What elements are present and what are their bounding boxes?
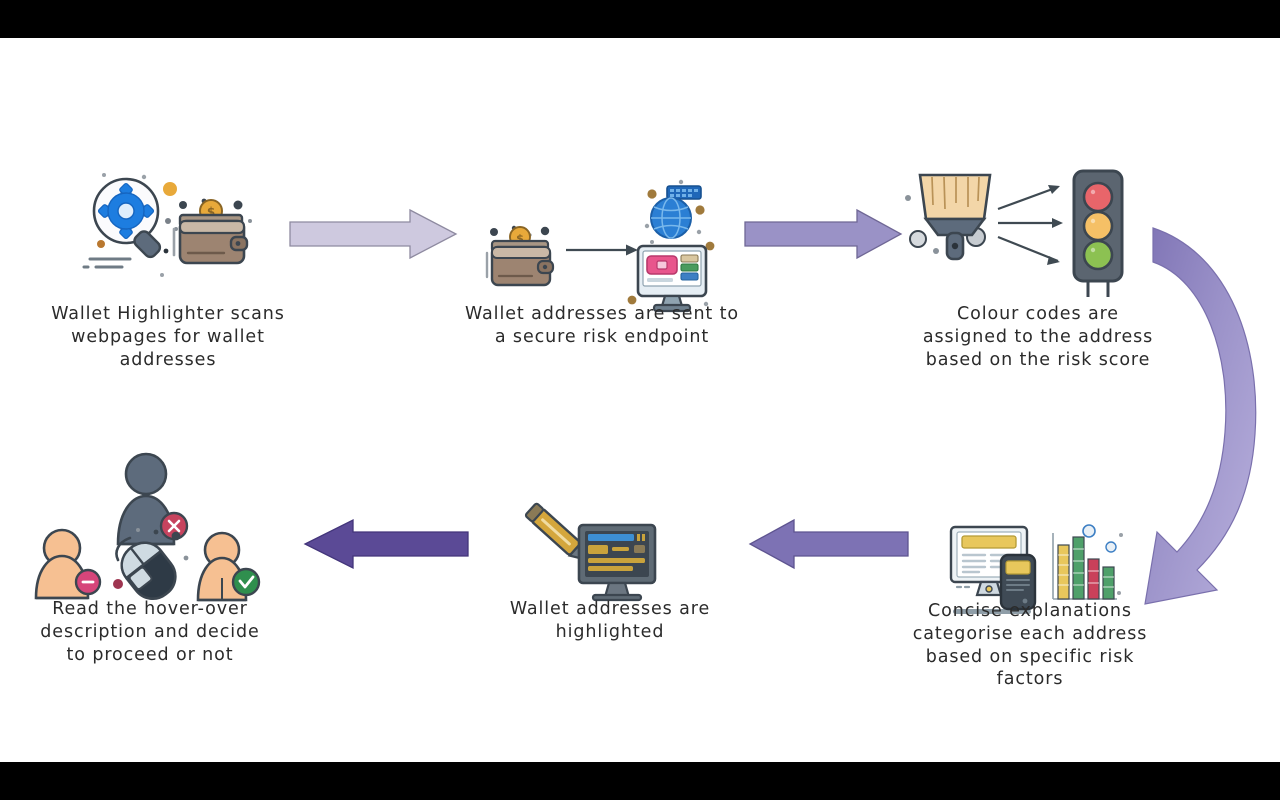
wallet-coin-icon: $ [487,226,553,285]
step-1-caption: Wallet Highlighter scans webpages for wa… [8,303,328,371]
step-2-caption: Wallet addresses are sent to a secure ri… [432,303,772,349]
step-1-icons: $ [78,163,268,293]
fan-arrowheads [1047,185,1063,265]
user-approved-icon [198,533,259,600]
highlighted-monitor-icon [579,525,655,600]
step-2-icons: $ [488,178,718,318]
monitor-risk-icon [628,240,715,311]
thin-arrow-icon [566,245,638,256]
traffic-light-icon [1074,171,1122,297]
step-6-caption: Read the hover-over description and deci… [5,598,295,666]
globe-server-icon [645,180,705,238]
arrow-step5-to-step6 [303,518,468,570]
arrow-step4-to-step5 [748,518,908,570]
user-blocked-icon [118,454,187,544]
arrow-step1-to-step2 [290,208,460,260]
wallet-coin-icon: $ [174,199,252,263]
screenshot-stage: $ Wallet Highlighter scans webpages for … [0,0,1280,800]
step-6-icons [28,428,268,603]
step-5-caption: Wallet addresses are highlighted [470,598,750,644]
step-5-icons [515,493,675,608]
bar-chart-icon [1053,525,1123,599]
step-3-icons [900,143,1150,278]
arrow-step2-to-step3 [745,208,905,260]
curved-arrow-step3-to-step4 [1135,188,1280,618]
fan-arrows-icon [998,187,1060,261]
paintbrush-icon [905,175,990,259]
step-4-caption: Concise explanations categorise each add… [885,600,1175,691]
magnifier-gear-icon [84,173,177,277]
user-warning-icon [36,530,100,598]
diagram-canvas: $ Wallet Highlighter scans webpages for … [0,38,1280,762]
